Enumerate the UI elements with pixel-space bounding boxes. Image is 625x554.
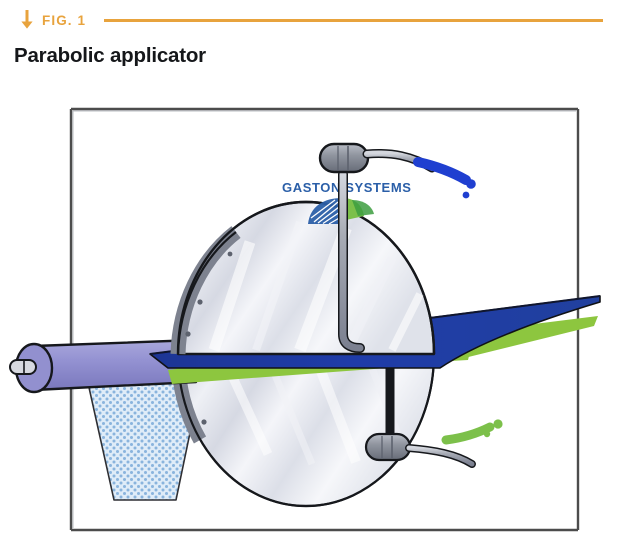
rivet	[201, 419, 206, 424]
page-title: Parabolic applicator	[14, 44, 206, 68]
rivet	[197, 299, 202, 304]
spray-droplet	[484, 431, 490, 437]
figure-page: FIG. 1 Parabolic applicator	[0, 0, 625, 554]
upper-pipe-joint	[320, 144, 368, 172]
rivet	[228, 252, 233, 257]
lower-pipe-joint	[366, 434, 410, 460]
figure-header: FIG. 1	[0, 0, 625, 40]
parabolic-applicator-diagram: GASTON SYSTEMS	[0, 82, 625, 554]
spray-droplet	[493, 419, 502, 428]
lower-spray-fluid	[446, 419, 503, 440]
illustration-container: GASTON SYSTEMS	[0, 82, 625, 554]
rivet	[185, 331, 190, 336]
down-arrow-icon	[14, 10, 40, 30]
spray-droplet	[466, 179, 476, 189]
upper-spray-fluid	[418, 162, 476, 198]
header-rule	[104, 19, 603, 22]
figure-number-label: FIG. 1	[42, 13, 86, 28]
parabolic-dish-upper	[178, 202, 434, 354]
roller-axle	[10, 360, 36, 374]
spray-droplet	[463, 192, 470, 199]
